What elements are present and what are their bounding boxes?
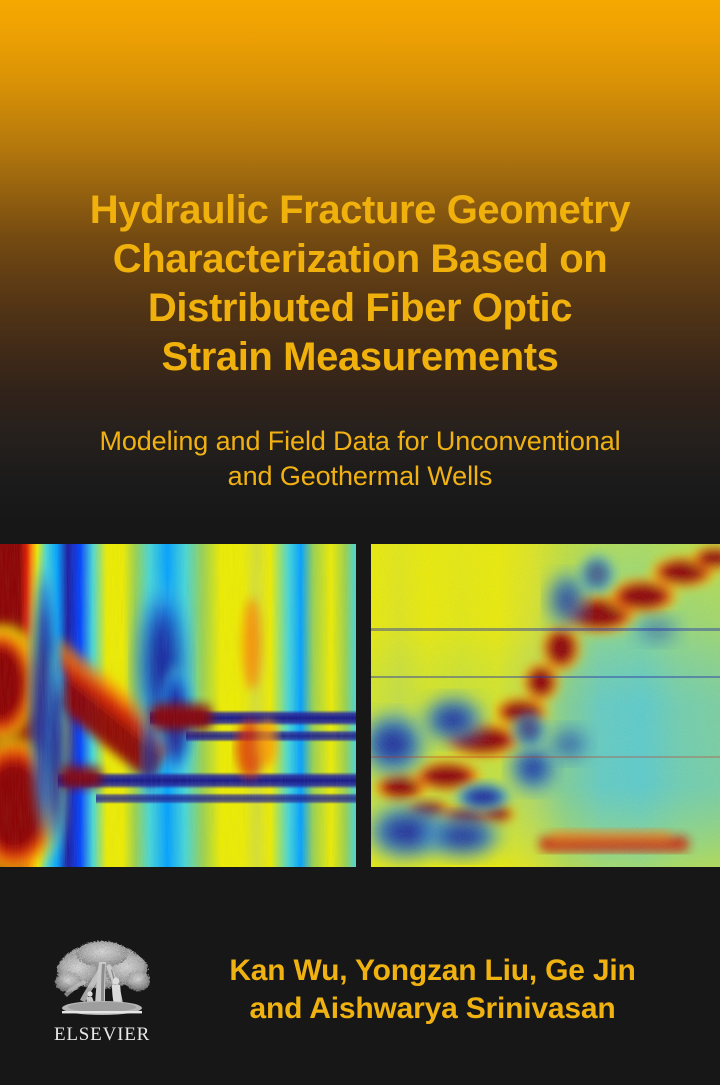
page-subtitle: Modeling and Field Data for Unconvention…	[0, 424, 720, 494]
subtitle-line-2: and Geothermal Wells	[0, 459, 720, 494]
author-line-1: Kan Wu, Yongzan Liu, Ge Jin	[160, 952, 705, 990]
title-line-1: Hydraulic Fracture Geometry	[0, 186, 720, 235]
elsevier-logo: ELSEVIER	[54, 936, 150, 1048]
book-cover: Hydraulic Fracture Geometry Characteriza…	[0, 0, 720, 1085]
cover-footer: ELSEVIER Kan Wu, Yongzan Liu, Ge Jin and…	[0, 920, 720, 1085]
heatmap-left-svg	[0, 544, 356, 867]
elsevier-wordmark: ELSEVIER	[54, 1024, 150, 1046]
elsevier-tree-icon	[54, 936, 150, 1022]
heatmap-right-svg	[371, 544, 720, 867]
title-line-4: Strain Measurements	[0, 333, 720, 382]
title-line-2: Characterization Based on	[0, 235, 720, 284]
author-line-2: and Aishwarya Srinivasan	[160, 990, 705, 1028]
authors: Kan Wu, Yongzan Liu, Ge Jin and Aishwary…	[160, 952, 705, 1028]
page-title: Hydraulic Fracture Geometry Characteriza…	[0, 186, 720, 382]
subtitle-line-1: Modeling and Field Data for Unconvention…	[0, 424, 720, 459]
title-line-3: Distributed Fiber Optic	[0, 284, 720, 333]
cover-imagery	[0, 544, 720, 867]
heatmap-panel-left	[0, 544, 356, 867]
heatmap-panel-right	[371, 544, 720, 867]
